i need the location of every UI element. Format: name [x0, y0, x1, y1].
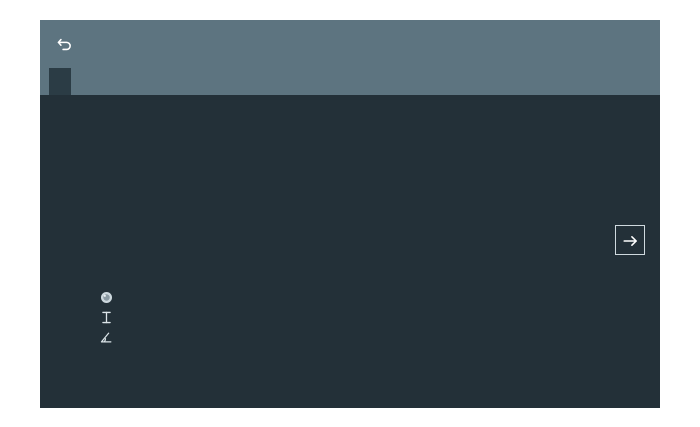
legend-item	[100, 289, 120, 302]
direction-deviation-icon	[100, 329, 113, 342]
frame-bottom	[0, 408, 700, 427]
tab-session[interactable]	[49, 68, 71, 95]
tab-stat-impact-angle[interactable]	[93, 68, 115, 95]
back-button[interactable]	[56, 36, 82, 53]
frame-top	[0, 0, 700, 20]
legend-item	[100, 309, 120, 322]
legend-item	[100, 329, 120, 342]
tab-stat-path[interactable]	[115, 68, 137, 95]
arrow-right-icon	[622, 233, 639, 247]
distance-deviation-icon	[100, 309, 113, 322]
practice-analysis-screen	[0, 0, 700, 427]
tab-progress-impact-angle[interactable]	[159, 68, 181, 95]
header-bar	[40, 20, 660, 68]
tab-progress-distance[interactable]	[137, 68, 159, 95]
tab-progress-path[interactable]	[181, 68, 203, 95]
main-content	[40, 95, 660, 408]
frame-left	[0, 0, 40, 427]
frame-right	[660, 0, 700, 427]
putt-count-icon	[100, 289, 113, 302]
tab-bar	[40, 68, 660, 95]
back-arrow-icon	[56, 36, 73, 53]
next-page-button[interactable]	[615, 225, 645, 255]
analysis-info-panel	[98, 135, 248, 142]
legend	[100, 289, 120, 342]
tab-stat-distance[interactable]	[71, 68, 93, 95]
